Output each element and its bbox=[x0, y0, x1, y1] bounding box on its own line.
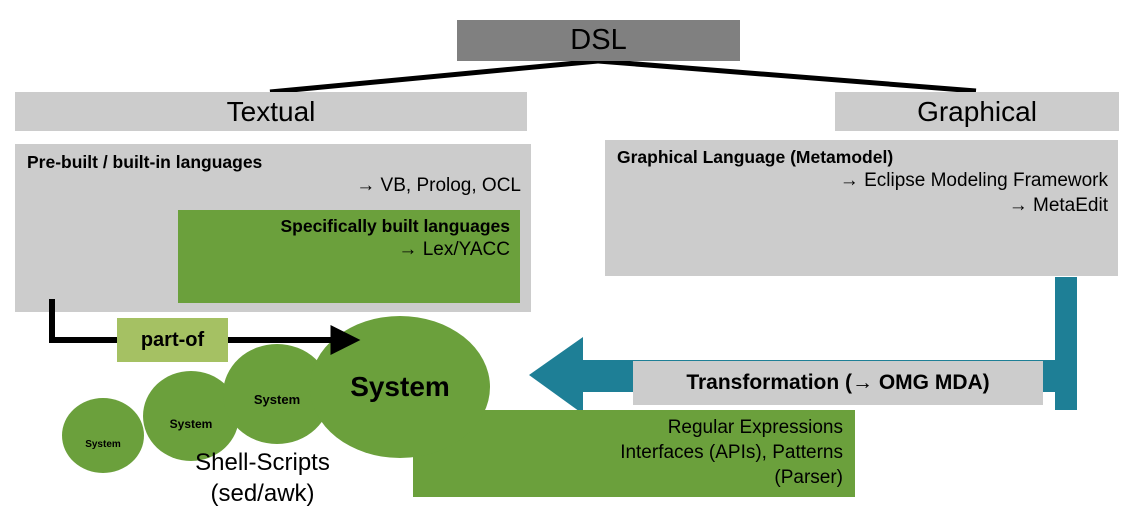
shell-scripts-caption-line-1: (sed/awk) bbox=[135, 479, 390, 510]
textual-header-box: Textual bbox=[15, 92, 527, 131]
part-of-label-box: part-of bbox=[117, 318, 228, 362]
connector-dsl-to-graphical bbox=[598, 61, 976, 91]
textual-body-item-0: → VB, Prolog, OCL bbox=[27, 174, 521, 199]
system-circle-2-label: System bbox=[170, 417, 213, 431]
diagram-canvas: DSL Textual Pre-built / built-in languag… bbox=[0, 0, 1134, 513]
system-circle-1: System bbox=[62, 398, 144, 473]
specific-languages-title: Specifically built languages bbox=[188, 216, 510, 238]
system-circle-1-label: System bbox=[85, 439, 121, 450]
graphical-to-transformation-connector bbox=[1055, 277, 1077, 410]
dsl-root-label: DSL bbox=[570, 26, 626, 55]
system-circle-4-label: System bbox=[350, 371, 450, 403]
implementation-item-2: (Parser) bbox=[413, 465, 843, 490]
graphical-body-item-0: → Eclipse Modeling Framework bbox=[617, 169, 1108, 194]
specific-languages-item-0: → Lex/YACC bbox=[188, 238, 510, 263]
shell-scripts-caption: Shell-Scripts (sed/awk) bbox=[135, 448, 390, 509]
graphical-body-title: Graphical Language (Metamodel) bbox=[617, 147, 1108, 169]
implementation-item-1: Interfaces (APIs), Patterns bbox=[413, 440, 843, 465]
textual-body-title: Pre-built / built-in languages bbox=[27, 152, 521, 174]
connector-dsl-to-textual bbox=[270, 61, 598, 92]
graphical-header-label: Graphical bbox=[917, 98, 1037, 126]
transformation-label: Transformation (→ OMG MDA) bbox=[686, 371, 989, 395]
system-circle-3-label: System bbox=[254, 392, 300, 407]
specific-languages-box: Specifically built languages → Lex/YACC bbox=[178, 210, 520, 303]
shell-scripts-caption-line-0: Shell-Scripts bbox=[135, 448, 390, 479]
graphical-body-item-1: → MetaEdit bbox=[617, 194, 1108, 219]
system-circle-4: System bbox=[310, 316, 490, 458]
graphical-header-box: Graphical bbox=[835, 92, 1119, 131]
dsl-root-box: DSL bbox=[457, 20, 740, 61]
graphical-body-box: Graphical Language (Metamodel) → Eclipse… bbox=[605, 140, 1118, 276]
part-of-label: part-of bbox=[141, 329, 204, 352]
implementation-box: Regular Expressions Interfaces (APIs), P… bbox=[413, 410, 855, 497]
textual-header-label: Textual bbox=[227, 98, 316, 126]
transformation-box: Transformation (→ OMG MDA) bbox=[633, 361, 1043, 405]
